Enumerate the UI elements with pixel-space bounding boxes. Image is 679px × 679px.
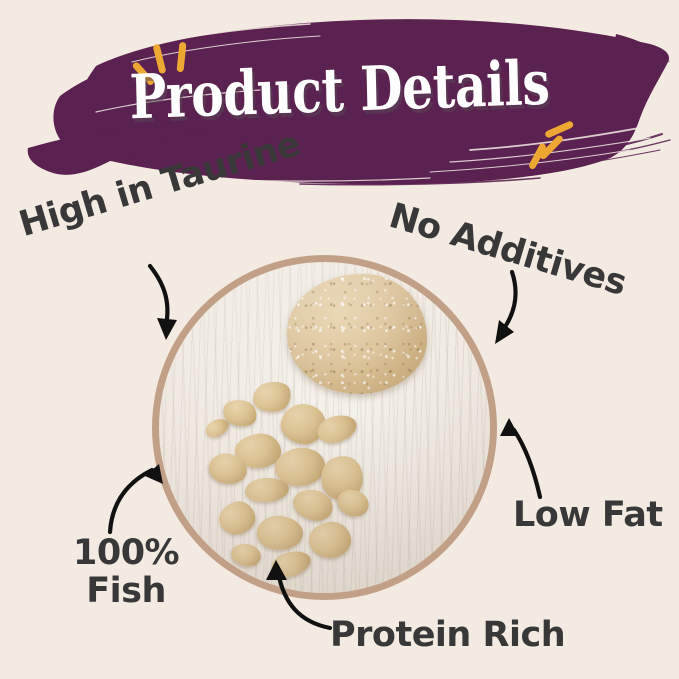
arrow-head-lowfat (500, 418, 519, 436)
header-banner: Product Details (0, 0, 679, 195)
product-photo (152, 255, 497, 600)
infographic-canvas: Product Details (0, 0, 679, 679)
arrow-additives (500, 272, 516, 334)
product-photo-inner (159, 262, 490, 593)
photo-shading (159, 262, 490, 593)
arrow-taurine (150, 266, 167, 326)
arrow-lowfat (514, 430, 540, 497)
feature-label-lowfat: Low Fat (513, 495, 663, 535)
arrow-head-additives (495, 320, 514, 344)
feature-label-fish: 100% Fish (73, 535, 179, 611)
arrow-head-taurine (157, 318, 177, 340)
feature-label-protein: Protein Rich (330, 615, 565, 655)
arrow-fish (110, 470, 152, 532)
brush-stroke-shape (0, 0, 679, 195)
